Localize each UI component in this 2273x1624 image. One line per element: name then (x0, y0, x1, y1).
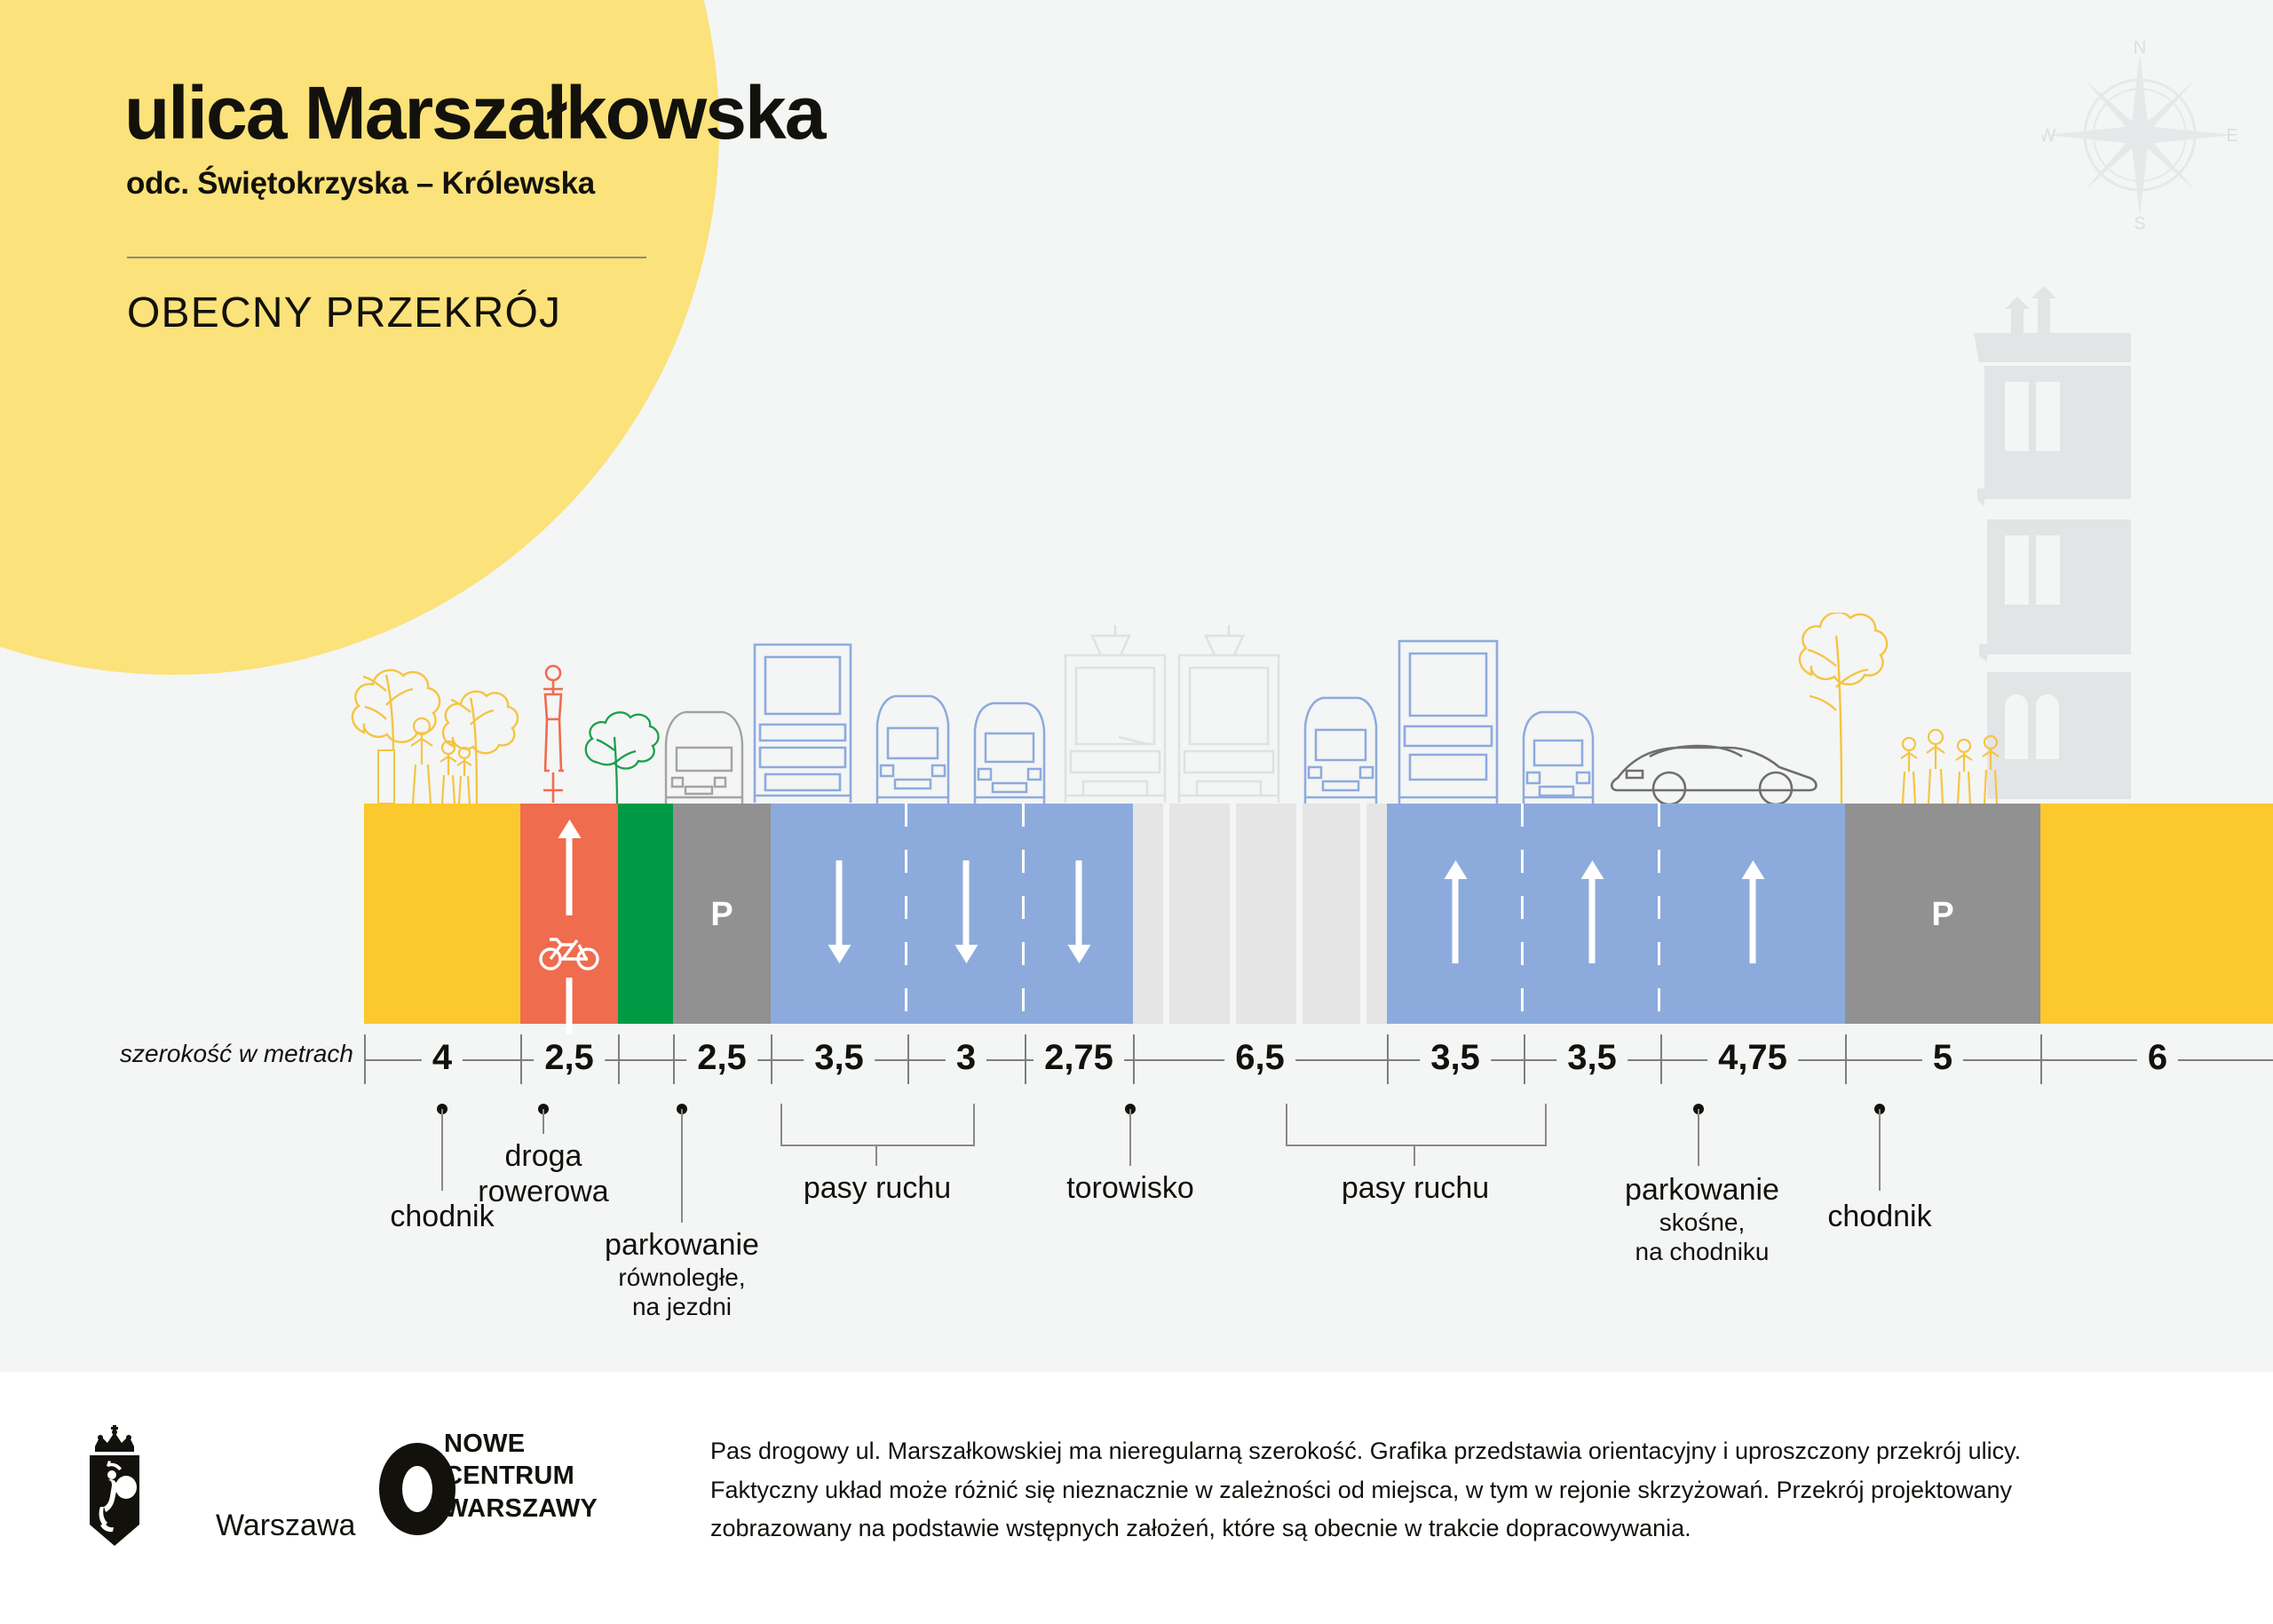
tree-right-icon (1800, 613, 1887, 804)
dim-value: 3,5 (1420, 1034, 1491, 1084)
parking-p-label-right: P (1931, 896, 1953, 934)
callout-sub: rowerowa (478, 1174, 608, 1209)
footer: Warszawa NOWE CENTRUM WARSZAWY Pas drogo… (0, 1372, 2273, 1624)
leader-line (1129, 1109, 1131, 1166)
callout-pasy-ruchu-right: pasy ruchu (1342, 1170, 1489, 1206)
lane-2-arrow-down-icon (963, 860, 970, 946)
dim-value: 2,75 (1034, 1034, 1124, 1084)
car-compact-icon (1524, 712, 1593, 804)
infographic-stage: N S E W (0, 0, 2273, 1624)
parked-car-left-icon (666, 712, 742, 804)
header-divider (127, 257, 646, 258)
warszawa-logo-label: Warszawa (216, 1509, 355, 1543)
ncw-line-2: CENTRUM (444, 1460, 598, 1492)
page-subtitle: odc. Świętokrzyska – Królewska (126, 166, 1456, 202)
band-green-strip (618, 804, 673, 1024)
ncw-line-1: NOWE (444, 1428, 598, 1460)
band-lane-5 (1524, 804, 1660, 1024)
leader-line (543, 1109, 544, 1134)
header: ulica Marszałkowska odc. Świętokrzyska –… (124, 75, 1456, 337)
dim-value: 4 (422, 1034, 463, 1084)
lane-5-arrow-up-icon (1589, 878, 1596, 963)
sports-car-side-icon (1612, 746, 1816, 804)
lane-6-arrow-up-icon (1750, 878, 1756, 963)
ruler-baseline (364, 1059, 2273, 1061)
callout-sub: skośne, (1625, 1208, 1779, 1237)
compass-north-label: N (2134, 38, 2146, 58)
tram-left-icon (1065, 625, 1165, 803)
tram-separator-3 (1296, 804, 1303, 1024)
dim-value: 4,75 (1707, 1034, 1798, 1084)
lane-1-arrow-down-icon (836, 860, 843, 946)
warszawa-logo: Warszawa (71, 1423, 275, 1557)
lane-3-arrow-down-icon (1076, 860, 1082, 946)
band-lane-1 (771, 804, 907, 1024)
leader-line (875, 1145, 877, 1166)
callout-pasy-ruchu-left: pasy ruchu (804, 1170, 951, 1206)
dim-value: 2,5 (686, 1034, 757, 1084)
ruler-caption: szerokość w metrach (105, 1040, 353, 1068)
callout-sub: równoległe, (605, 1263, 759, 1292)
band-lane-3 (1025, 804, 1133, 1024)
leader-line (1879, 1109, 1881, 1191)
leader-line (1414, 1145, 1415, 1166)
car-sedan-icon (975, 703, 1044, 804)
van-icon (1399, 641, 1497, 804)
tram-separator-2 (1230, 804, 1236, 1024)
callout-sub2: na jezdni (605, 1292, 759, 1321)
callout-droga-rowerowa: droga rowerowa (478, 1138, 608, 1209)
band-parking-left: P (673, 804, 771, 1024)
brace-pasy-ruchu-right (1286, 1104, 1547, 1146)
band-parking-right: P (1845, 804, 2040, 1024)
car-estate-icon (1305, 698, 1376, 804)
dim-value: 6,5 (1224, 1034, 1295, 1084)
compass-east-label: E (2226, 126, 2237, 146)
callout-torowisko: torowisko (1066, 1170, 1194, 1206)
shrub-icon (586, 712, 659, 804)
tram-right-icon (1179, 625, 1279, 803)
callout-main: parkowanie (1625, 1172, 1779, 1208)
parking-p-label: P (710, 896, 733, 934)
band-sidewalk-left (364, 804, 520, 1024)
brace-pasy-ruchu-left (780, 1104, 975, 1146)
bike-arrow-up-icon (566, 837, 573, 915)
truck-icon (755, 645, 851, 803)
callout-parkowanie-right: parkowanie skośne, na chodniku (1625, 1172, 1779, 1266)
dim-value: 3 (946, 1034, 986, 1084)
tree-group-left (352, 670, 518, 804)
street-cross-section: P P (364, 804, 1987, 1024)
callout-main: torowisko (1066, 1170, 1194, 1206)
callout-main: droga (478, 1138, 608, 1174)
callout-main: pasy ruchu (804, 1170, 951, 1206)
callout-parkowanie-left: parkowanie równoległe, na jezdni (605, 1227, 759, 1321)
pedestrian-group-right (1901, 730, 1999, 804)
bicycle-icon (539, 935, 599, 979)
lane-4-arrow-up-icon (1453, 878, 1459, 963)
dim-value: 3,5 (1556, 1034, 1628, 1084)
band-sidewalk-right (2040, 804, 2273, 1024)
leader-line (681, 1109, 683, 1223)
callout-main: pasy ruchu (1342, 1170, 1489, 1206)
ncw-wordmark: NOWE CENTRUM WARSZAWY (444, 1428, 598, 1525)
section-label: OBECNY PRZEKRÓJ (127, 289, 1456, 337)
band-lane-6 (1660, 804, 1845, 1024)
compass-west-label: W (2042, 126, 2056, 146)
band-lane-4 (1387, 804, 1524, 1024)
callout-main: parkowanie (605, 1227, 759, 1263)
dimension-ruler: 4 2,5 2,5 3,5 3 2,75 6,5 3,5 3,5 4,75 5 … (364, 1034, 1987, 1084)
callout-chodnik-right: chodnik (1827, 1199, 1931, 1234)
compass-south-label: S (2134, 214, 2145, 231)
compass-rose-icon: N S E W (2042, 36, 2237, 231)
car-hatchback-icon (877, 696, 948, 804)
ncw-line-3: WARSZAWY (444, 1493, 598, 1525)
band-lane-2 (907, 804, 1025, 1024)
band-bike-lane (520, 804, 618, 1024)
tram-separator-4 (1360, 804, 1366, 1024)
pedestrian-group-left (411, 718, 471, 804)
dim-value: 5 (1922, 1034, 1963, 1084)
tram-separator-1 (1163, 804, 1169, 1024)
dim-value: 2,5 (534, 1034, 605, 1084)
page-title: ulica Marszałkowska (124, 75, 1456, 150)
band-tramway (1133, 804, 1387, 1024)
street-scenery (337, 613, 2024, 804)
leader-line (1698, 1109, 1699, 1166)
footer-disclaimer: Pas drogowy ul. Marszałkowskiej ma niere… (710, 1432, 2122, 1549)
cyclist-front-icon (543, 666, 564, 803)
dim-value: 6 (2137, 1034, 2178, 1084)
dim-value: 3,5 (804, 1034, 875, 1084)
callout-sub2: na chodniku (1625, 1237, 1779, 1266)
leader-line (441, 1109, 443, 1191)
callout-main: chodnik (1827, 1199, 1931, 1234)
